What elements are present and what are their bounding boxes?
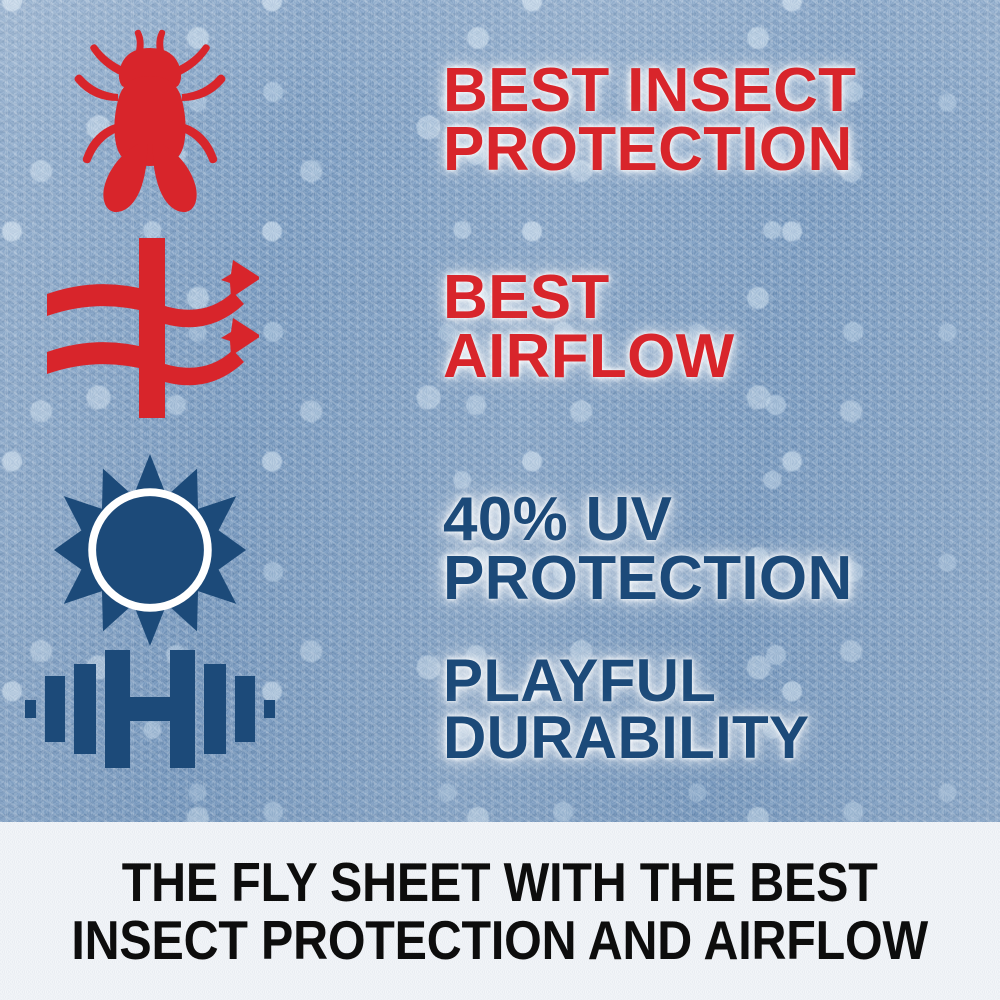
feature-row-airflow: BEST AIRFLOW [0,238,734,418]
feature-label-uv-protection: 40% UV PROTECTION [443,491,853,609]
feature-icon-cell [0,238,300,418]
feature-icon-cell [0,648,300,770]
feature-row-uv-protection: 40% UV PROTECTION [0,452,853,648]
feature-text-cell: 40% UV PROTECTION [443,491,853,609]
feature-text-cell: BEST AIRFLOW [443,269,734,387]
feature-label-airflow: BEST AIRFLOW [443,269,734,387]
dumbbell-icon [25,648,275,770]
feature-icon-cell [0,28,300,213]
caption-headline: THE FLY SHEET WITH THE BEST INSECT PROTE… [72,853,929,970]
product-feature-infographic: BEST INSECT PROTECTION [0,0,1000,1000]
airflow-arrows-icon [41,238,259,418]
feature-row-insect-protection: BEST INSECT PROTECTION [0,28,856,213]
feature-text-cell: PLAYFUL DURABILITY [443,652,809,766]
sun-icon [52,452,248,648]
feature-text-cell: BEST INSECT PROTECTION [443,62,856,180]
caption-bar: THE FLY SHEET WITH THE BEST INSECT PROTE… [0,822,1000,1000]
feature-label-insect-protection: BEST INSECT PROTECTION [443,62,856,180]
feature-row-durability: PLAYFUL DURABILITY [0,648,809,770]
feature-label-durability: PLAYFUL DURABILITY [443,652,809,766]
feature-icon-cell [0,452,300,648]
fly-icon [65,28,235,213]
